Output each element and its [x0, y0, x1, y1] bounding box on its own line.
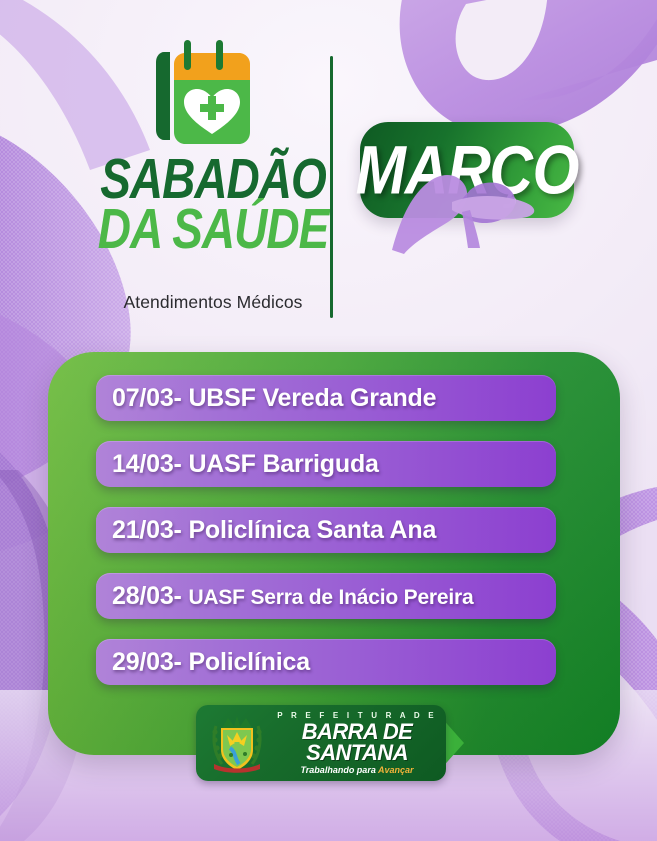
schedule-date: 14/03- [112, 450, 182, 478]
logo-slogan-prefix: Trabalhando para [300, 765, 378, 775]
schedule-row[interactable]: 07/03- UBSF Vereda Grande [96, 375, 556, 421]
schedule-row[interactable]: 21/03- Policlínica Santa Ana [96, 507, 556, 553]
schedule-row[interactable]: 29/03- Policlínica [96, 639, 556, 685]
title-line-2: DA SAÚDE [88, 204, 338, 254]
schedule-date: 29/03- [112, 648, 182, 676]
barra-de-santana-coat-of-arms-icon [206, 712, 268, 774]
schedule-place: Policlínica [188, 648, 309, 676]
title-subtitle: Atendimentos Médicos [92, 292, 334, 313]
schedule-row[interactable]: 28/03- UASF Serra de Inácio Pereira [96, 573, 556, 619]
schedule-date: 07/03- [112, 384, 182, 412]
logo-name-line-2: SANTANA [272, 742, 442, 763]
schedule-row-text: 07/03- UBSF Vereda Grande [112, 384, 436, 413]
schedule-row[interactable]: 14/03- UASF Barriguda [96, 441, 556, 487]
schedule-date: 21/03- [112, 516, 182, 544]
month-badge-label: MARÇO [356, 113, 579, 226]
schedule-place: UASF Serra de Inácio Pereira [188, 586, 473, 609]
schedule-place: UBSF Vereda Grande [188, 384, 436, 412]
poster-canvas: SABADÃO DA SAÚDE Atendimentos Médicos MA… [0, 0, 657, 841]
logo-name-line-1: BARRA DE [272, 721, 442, 742]
header-divider [330, 56, 333, 318]
logo-text-block: P R E F E I T U R A D E BARRA DE SANTANA… [272, 711, 442, 775]
poster-header: SABADÃO DA SAÚDE Atendimentos Médicos MA… [0, 0, 657, 340]
calendar-heart-plus-icon [144, 36, 264, 156]
schedule-place: Policlínica Santa Ana [188, 516, 436, 544]
schedule-panel: 07/03- UBSF Vereda Grande 14/03- UASF Ba… [48, 352, 620, 755]
schedule-rows: 07/03- UBSF Vereda Grande 14/03- UASF Ba… [48, 352, 620, 755]
logo-plate: P R E F E I T U R A D E BARRA DE SANTANA… [196, 705, 446, 781]
schedule-row-text: 29/03- Policlínica [112, 648, 310, 677]
month-badge: MARÇO [360, 122, 574, 218]
brand-block: SABADÃO DA SAÚDE Atendimentos Médicos [92, 36, 328, 320]
schedule-row-text: 28/03- UASF Serra de Inácio Pereira [112, 582, 473, 611]
schedule-row-text: 21/03- Policlínica Santa Ana [112, 516, 436, 545]
schedule-row-text: 14/03- UASF Barriguda [112, 450, 379, 479]
city-logo: P R E F E I T U R A D E BARRA DE SANTANA… [196, 705, 466, 783]
schedule-place: UASF Barriguda [188, 450, 378, 478]
logo-slogan: Trabalhando para Avançar [272, 765, 442, 775]
logo-slogan-highlight: Avançar [378, 765, 414, 775]
schedule-date: 28/03- [112, 582, 182, 610]
